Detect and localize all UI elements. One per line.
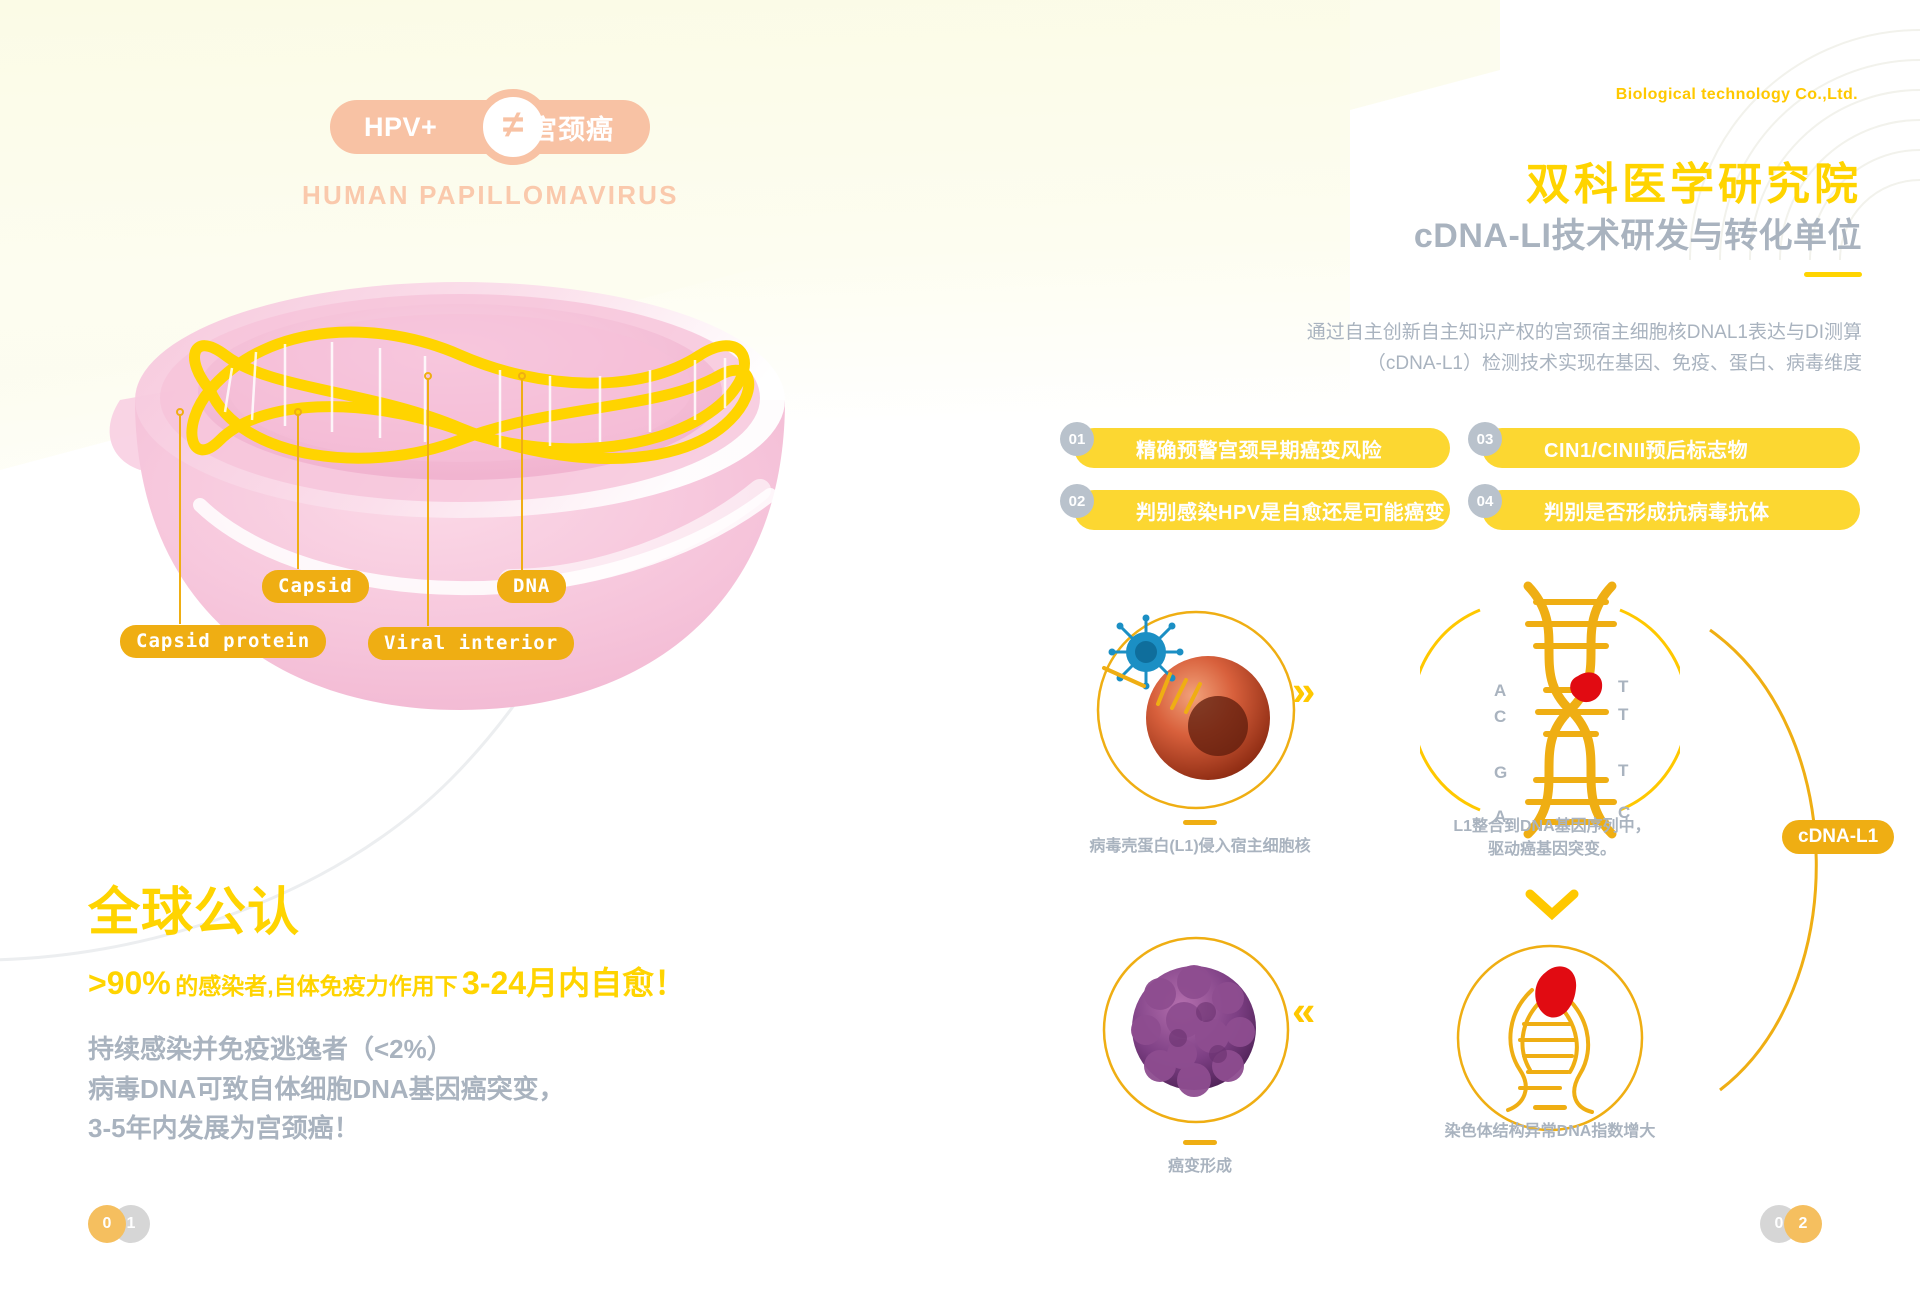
callout-label-viral-interior: Viral interior: [368, 627, 574, 660]
description-line-1: 通过自主创新自主知识产权的宫颈宿主细胞核DNAL1表达与DI测算: [1307, 318, 1862, 349]
dna-base-left-2: C: [1494, 707, 1506, 726]
feature-number-02: 02: [1060, 484, 1094, 518]
hpv-badge-left-label: HPV+: [364, 112, 437, 143]
feature-badge-02[interactable]: 判别感染HPV是自愈还是可能癌变 02: [1060, 490, 1450, 530]
caption-dash: [1183, 820, 1217, 825]
feature-badge-03[interactable]: CIN1/CINII预后标志物 03: [1468, 428, 1860, 468]
global-consensus-block: 全球公认 >90% 的感染者,自体免疫力作用下 3-24月内自愈！ 持续感染并免…: [88, 885, 908, 1149]
step4-illustration-tumor: [1086, 920, 1306, 1140]
feature-badge-01[interactable]: 精确预警宫颈早期癌变风险 01: [1060, 428, 1450, 468]
callout-leader-line: [521, 378, 523, 570]
cdna-flow-arc: [1650, 590, 1910, 1150]
right-page: Biological technology Co.,Ltd. 双科医学研究院 c…: [1000, 0, 1920, 1303]
step1-illustration-virus-entry: [1086, 600, 1306, 820]
not-equal-glyph: ≠: [503, 106, 524, 144]
callout-leader-line: [179, 414, 181, 624]
feature-label-03: CIN1/CINII预后标志物: [1544, 434, 1748, 463]
paragraph-line-2: 病毒DNA可致自体细胞DNA基因癌突变，: [88, 1070, 908, 1110]
stat-mid: 的感染者,自体免疫力作用下: [175, 973, 457, 999]
feature-label-01: 精确预警宫颈早期癌变风险: [1136, 434, 1382, 463]
callout-label-capsid-protein: Capsid protein: [120, 625, 326, 658]
hpv-subtitle: HUMAN PAPILLOMAVIRUS: [302, 180, 679, 211]
callout-leader-line: [427, 378, 429, 626]
feature-badge-04[interactable]: 判别是否形成抗病毒抗体 04: [1468, 490, 1860, 530]
step4-caption-text: 癌变形成: [1168, 1158, 1232, 1175]
dna-base-right-1: T: [1618, 677, 1629, 696]
page-number-digit-1: 0: [88, 1205, 126, 1243]
stat-lead: >90%: [88, 965, 171, 1001]
description-line-2: （cDNA-L1）检测技术实现在基因、免疫、蛋白、病毒维度: [1307, 349, 1862, 380]
chevron-right-icon: »: [1292, 670, 1315, 712]
brand-divider: [1804, 272, 1862, 277]
chevron-down-icon: [1524, 888, 1580, 922]
step2-caption-line-1: L1整合到DNA基因序列中，: [1453, 818, 1650, 835]
paragraph-line-1: 持续感染并免疫逃逸者（<2%）: [88, 1030, 908, 1070]
brand-title: 双科医学研究院: [1526, 148, 1862, 212]
step3-caption-text: 染色体结构异常DNA指数增大: [1445, 1123, 1656, 1140]
global-consensus-title: 全球公认: [88, 885, 908, 942]
feature-number-01: 01: [1060, 422, 1094, 456]
feature-number-04: 04: [1468, 484, 1502, 518]
page-number-left: 1 0: [88, 1205, 188, 1245]
left-page: HPV+ ≠ 宫颈癌 HUMAN PAPILLOMAVIRUS: [0, 0, 1000, 1303]
brand-description: 通过自主创新自主知识产权的宫颈宿主细胞核DNAL1表达与DI测算 （cDNA-L…: [1307, 318, 1862, 380]
global-consensus-stat: >90% 的感染者,自体免疫力作用下 3-24月内自愈！: [88, 958, 908, 1004]
dna-base-right-2: T: [1618, 705, 1629, 724]
virus-particle-icon: [1109, 615, 1184, 690]
caption-dash: [1535, 800, 1569, 805]
page-number-digit-2: 2: [1784, 1205, 1822, 1243]
stat-tail: 3-24月内自愈！: [462, 965, 686, 1001]
step4-caption: 癌变形成: [1060, 1140, 1340, 1178]
feature-number-03: 03: [1468, 422, 1502, 456]
feature-label-02: 判别感染HPV是自愈还是可能癌变: [1136, 496, 1445, 525]
step2-caption-line-2: 驱动癌基因突变。: [1488, 841, 1616, 858]
callout-label-capsid: Capsid: [262, 570, 369, 603]
caption-dash: [1183, 1140, 1217, 1145]
caption-dash: [1533, 1105, 1567, 1110]
company-name: Biological technology Co.,Ltd.: [1616, 86, 1858, 104]
global-consensus-paragraph: 持续感染并免疫逃逸者（<2%） 病毒DNA可致自体细胞DNA基因癌突变， 3-5…: [88, 1030, 908, 1149]
dna-base-left-1: A: [1494, 681, 1506, 700]
step1-caption-text: 病毒壳蛋白(L1)侵入宿主细胞核: [1089, 838, 1310, 855]
step1-caption: 病毒壳蛋白(L1)侵入宿主细胞核: [1060, 820, 1340, 858]
callout-leader-line: [297, 414, 299, 569]
hpv-title-badge: HPV+ ≠ 宫颈癌: [330, 100, 650, 154]
brand-subtitle: cDNA-LI技术研发与转化单位: [1414, 208, 1862, 257]
page-number-right: 0 2: [1760, 1205, 1860, 1245]
abnormality-marker-icon: [1535, 966, 1576, 1017]
dna-base-right-3: T: [1618, 761, 1629, 780]
callout-label-dna: DNA: [497, 570, 566, 603]
dna-base-left-3: G: [1494, 763, 1507, 782]
hpv-badge-right-label: 宫颈癌: [530, 108, 614, 147]
feature-label-04: 判别是否形成抗病毒抗体: [1544, 496, 1770, 525]
cdna-l1-label: cDNA-L1: [1782, 820, 1894, 854]
paragraph-line-3: 3-5年内发展为宫颈癌！: [88, 1109, 908, 1149]
process-diagram: 病毒壳蛋白(L1)侵入宿主细胞核 »: [1000, 590, 1920, 1180]
